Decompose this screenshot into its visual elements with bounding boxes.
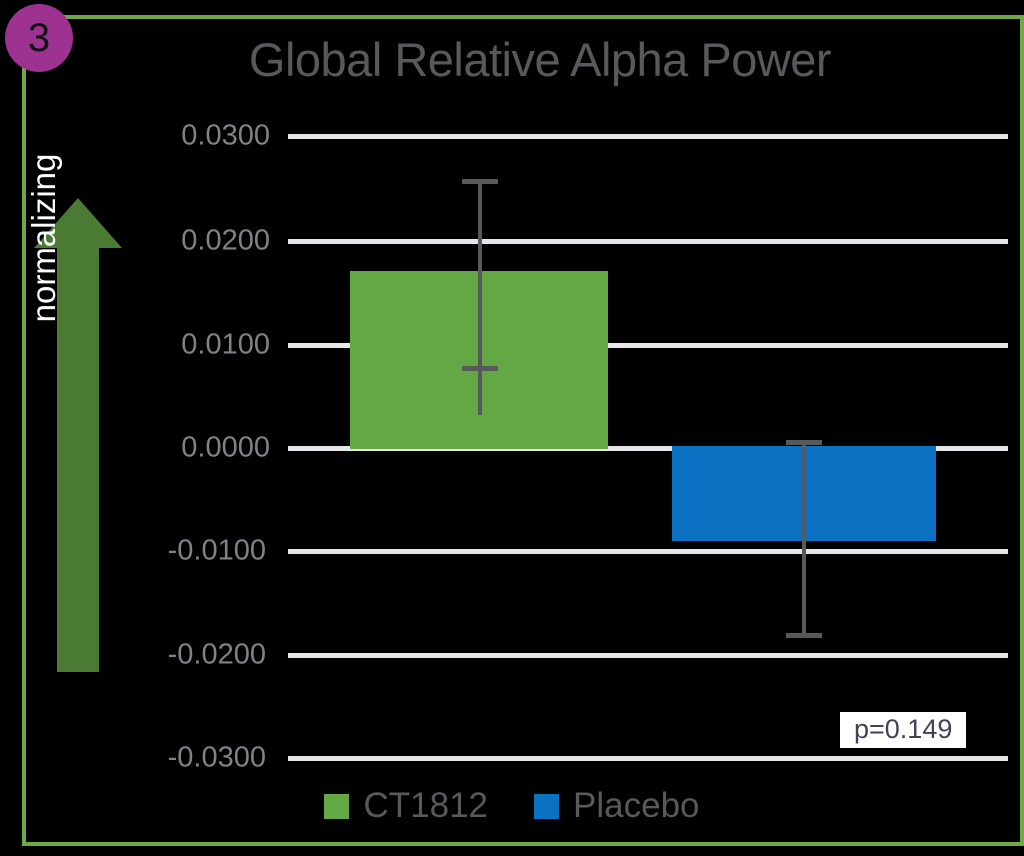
ytick-label-6: -0.0300 (146, 742, 266, 775)
frame-border-bottom (22, 842, 1024, 846)
arrow-label-normalizing: normalizing (25, 154, 63, 323)
slide-number-text: 3 (28, 18, 50, 58)
errorbar-cap-lower-placebo (786, 633, 822, 638)
p-value-box: p=0.149 (840, 712, 966, 748)
slide-canvas: 3 normalizing Global Relative Alpha Powe… (0, 0, 1024, 856)
gridline--0.0300 (288, 756, 1008, 761)
legend-label-ct1812: CT1812 (363, 786, 488, 826)
slide-number-badge: 3 (5, 4, 73, 72)
errorbar-cap-lower-ct1812 (462, 366, 498, 371)
chart-title: Global Relative Alpha Power (140, 32, 940, 87)
legend-item-placebo[interactable]: Placebo (534, 786, 699, 826)
errorbar-line-ct1812 (478, 180, 482, 415)
chart-legend: CT1812 Placebo (0, 786, 1024, 826)
arrow-shaft (57, 246, 99, 672)
gridline--0.0200 (288, 653, 1008, 658)
p-value-text: p=0.149 (854, 714, 952, 744)
ytick-label-5: -0.0200 (146, 639, 266, 672)
ytick-label-0: 0.0300 (150, 120, 270, 153)
frame-border-left (22, 15, 26, 846)
errorbar-line-placebo (802, 442, 806, 638)
frame-border-right (1020, 15, 1024, 846)
legend-label-placebo: Placebo (573, 786, 699, 826)
legend-item-ct1812[interactable]: CT1812 (324, 786, 488, 826)
errorbar-cap-upper-placebo (786, 440, 822, 445)
plot-area: 0.0300 0.0200 0.0100 0.0000 -0.0100 -0.0… (288, 134, 1008, 762)
gridline-0.0300 (288, 134, 1008, 139)
ytick-label-3: 0.0000 (150, 432, 270, 465)
legend-swatch-ct1812 (324, 794, 349, 819)
legend-swatch-placebo (534, 794, 559, 819)
errorbar-cap-upper-ct1812 (462, 179, 498, 184)
ytick-label-4: -0.0100 (146, 535, 266, 568)
gridline-0.0200 (288, 239, 1008, 244)
ytick-label-1: 0.0200 (150, 225, 270, 258)
gridline--0.0100 (288, 549, 1008, 554)
frame-border-top (22, 15, 1024, 19)
ytick-label-2: 0.0100 (150, 329, 270, 362)
